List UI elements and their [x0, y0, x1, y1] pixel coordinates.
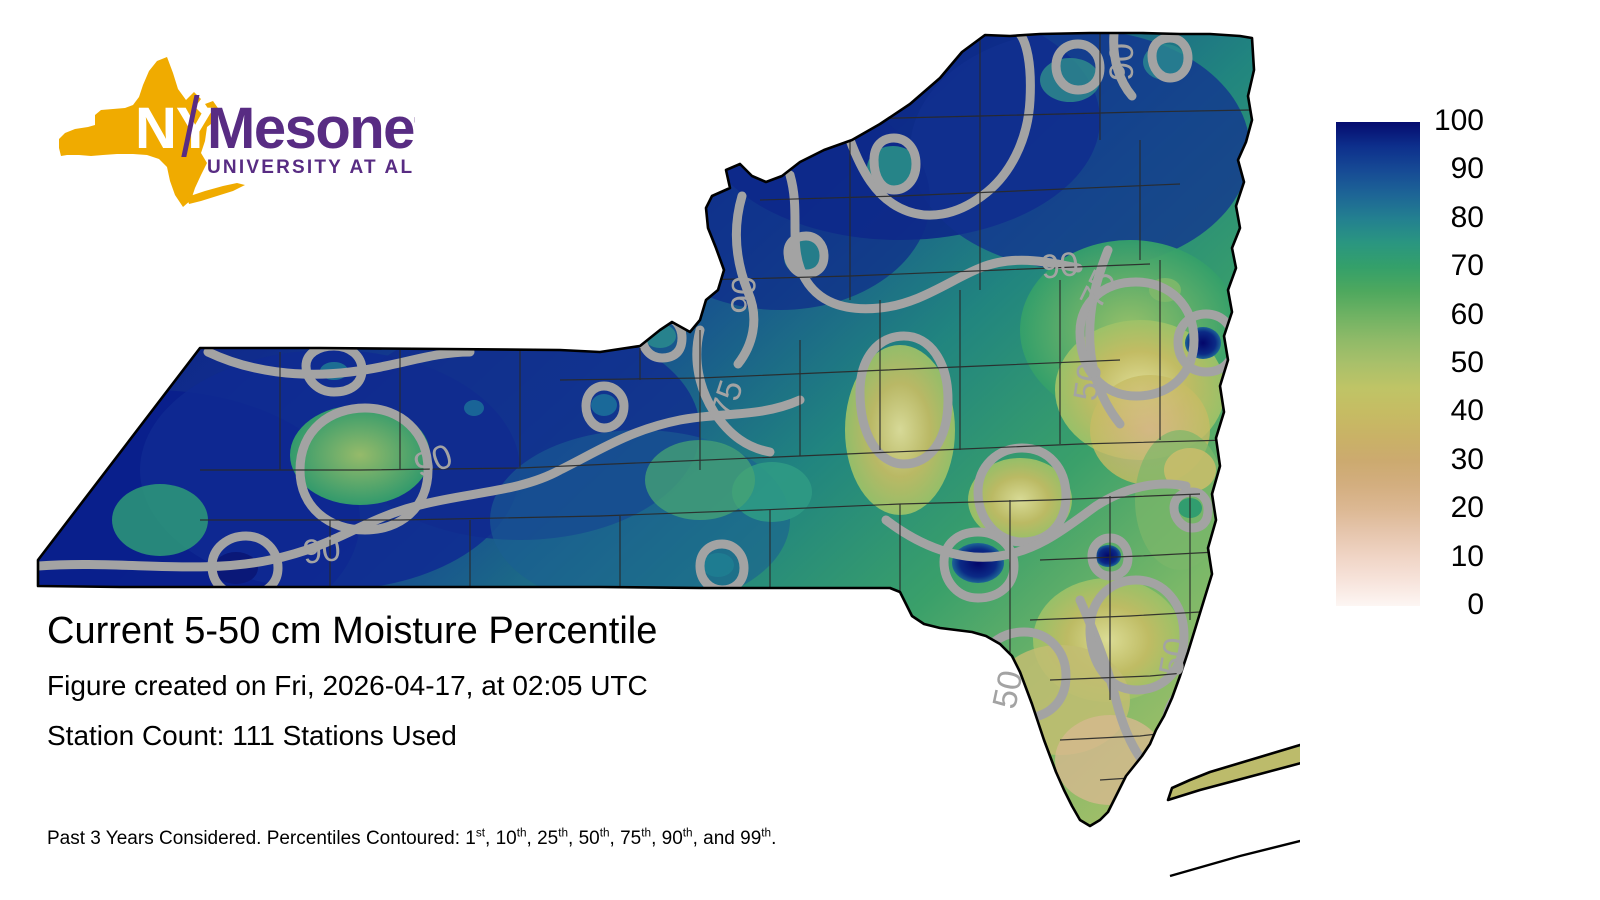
contour-label-90-0: 90 [1103, 43, 1141, 81]
contour-label-90-2: 90 [1039, 245, 1081, 287]
colorbar-tick-30: 30 [1451, 445, 1484, 475]
colorbar-tick-100: 100 [1434, 106, 1484, 136]
contour-label-50-7: 50 [1067, 360, 1110, 403]
field-bullseye-westchester [1166, 700, 1234, 756]
field-bullseye-hv [1095, 545, 1121, 567]
footnote-percentile-50: 50 [579, 828, 600, 849]
contour-label-90-1: 90 [724, 275, 763, 314]
field-bullseye-c2 [464, 400, 484, 416]
colorbar-tick-90: 90 [1451, 154, 1484, 184]
footnote-percentile-99: 99 [740, 828, 761, 849]
map-svg[interactable]: 90909090907575505050 [0, 0, 1300, 900]
footnote-ordinal-99: th [761, 827, 771, 840]
field-blob-tan-south [1055, 715, 1165, 805]
field-blob-teal-n1 [1040, 58, 1100, 102]
footnote-percentile-25: 25 [537, 828, 558, 849]
colorbar [1336, 122, 1420, 606]
field-blob-mid-south [490, 430, 790, 610]
colorbar-tick-60: 60 [1451, 300, 1484, 330]
footnote-ordinal-50: th [600, 827, 610, 840]
field-blob-teal-sw [112, 484, 208, 556]
footnote-ordinal-90: th [683, 827, 693, 840]
contour-label-50-8: 50 [1152, 635, 1196, 679]
field-bullseye-s [702, 553, 734, 577]
colorbar-tick-40: 40 [1451, 396, 1484, 426]
field-bullseye-c [591, 394, 617, 416]
footnote-percentile-90: 90 [662, 828, 683, 849]
footnote-percentile-1: 1 [465, 828, 476, 849]
footnote-ordinal-10: th [517, 827, 527, 840]
page-title: Current 5-50 cm Moisture Percentile [47, 612, 1047, 650]
colorbar-tick-labels: 1009080706050403020100 [1424, 122, 1484, 606]
colorbar-tick-80: 80 [1451, 203, 1484, 233]
li-blob-west [1160, 740, 1300, 840]
field-bullseye-finger [644, 324, 676, 348]
mainland-field [0, 0, 1300, 900]
colorbar-gradient [1336, 122, 1420, 606]
colorbar-tick-0: 0 [1467, 590, 1484, 620]
footnote-percentile-75: 75 [620, 828, 641, 849]
contour-label-90-4: 90 [301, 530, 343, 572]
caption-block: Current 5-50 cm Moisture Percentile Figu… [47, 612, 1047, 750]
footnote-ordinal-75: th [641, 827, 651, 840]
field-bullseye-capital [952, 543, 1004, 583]
created-timestamp: Figure created on Fri, 2026-04-17, at 02… [47, 672, 1047, 700]
contour-ring-westchester [1166, 684, 1244, 772]
station-count: Station Count: 111 Stations Used [47, 722, 1047, 750]
colorbar-tick-50: 50 [1451, 348, 1484, 378]
footnote-ordinal-1: st [476, 827, 485, 840]
colorbar-tick-20: 20 [1451, 493, 1484, 523]
colorbar-tick-10: 10 [1451, 542, 1484, 572]
colorbar-tick-70: 70 [1451, 251, 1484, 281]
figure-root: NYS Mesonet UNIVERSITY AT ALBANY [0, 0, 1600, 900]
footnote: Past 3 Years Considered. Percentiles Con… [47, 828, 776, 850]
footnote-percentile-10: 10 [496, 828, 517, 849]
footnote-ordinal-25: th [558, 827, 568, 840]
soil-moisture-map[interactable]: 90909090907575505050 [0, 0, 1300, 900]
